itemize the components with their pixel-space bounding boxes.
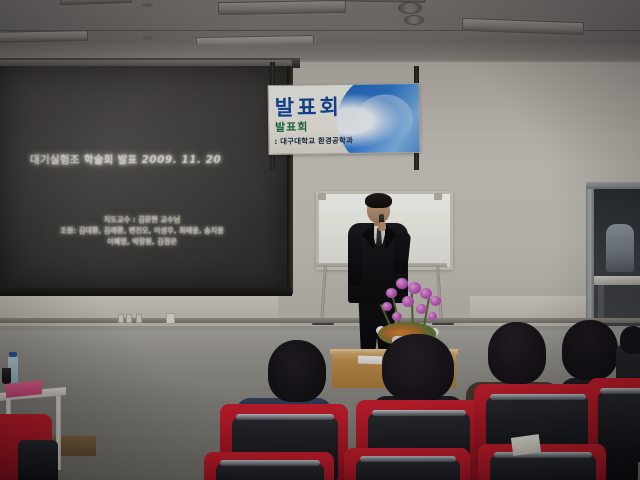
projection-glow [0, 66, 288, 291]
alcove-desk [594, 276, 640, 285]
slide-title-date: 2009. 11. 20 [141, 154, 221, 166]
ceiling-light-fixture [218, 0, 346, 15]
screen-bottom-bar [0, 288, 292, 296]
bottle-cap [9, 352, 17, 357]
banner-title-large: 발표회 [275, 91, 342, 122]
orchid-bloom [430, 296, 441, 306]
orchid-bloom [396, 278, 408, 289]
papers-on-table [358, 356, 382, 365]
ceiling-vent [404, 15, 424, 25]
wall-outlet-small [118, 314, 124, 323]
baseboard [0, 318, 640, 323]
banner-department: : 대구대학교 환경공학과 [274, 135, 353, 147]
alcove-desk-leg [598, 285, 604, 319]
slide-credits: 지도교수 : 김문현 교수님 조원: 김대환, 김래환, 변진오, 이성우, 최… [22, 214, 262, 247]
ceiling-vent [398, 2, 422, 14]
orchid-bloom [386, 288, 397, 298]
alcove-person [606, 224, 634, 272]
seat-handrail [220, 460, 320, 466]
ceiling-speaker [142, 36, 153, 40]
seat-cushion[interactable] [490, 456, 596, 480]
wall-outlet-small [136, 314, 142, 323]
doorway-header [586, 182, 640, 189]
orchid-bloom [416, 304, 427, 314]
whiteboard-corner [318, 193, 326, 200]
seat-handrail [236, 414, 334, 420]
slide-members-line-2: 이혜영, 박장원, 김정은 [22, 236, 262, 247]
seat-cushion[interactable] [216, 464, 324, 480]
cup [2, 368, 11, 384]
event-banner: 발표회 발표회 : 대구대학교 환경공학과 [268, 83, 421, 155]
projection-screen [0, 66, 288, 291]
slide-title: 대기실험조 학술회 발표 2009. 11. 20 [30, 152, 245, 167]
wall-outlet-small [126, 314, 132, 323]
seat-cushion[interactable] [18, 440, 58, 480]
seat-handrail [494, 452, 592, 458]
orchid-bloom [428, 312, 437, 321]
presenter-hair [365, 193, 392, 208]
audience-person-hair [562, 320, 618, 380]
presenter-arm [348, 232, 362, 286]
ceiling-light-fixture [0, 30, 88, 43]
seat-cushion[interactable] [356, 460, 460, 480]
banner-title-mid: 발표회 [275, 118, 309, 134]
seat-handrail [490, 394, 586, 400]
audience-person-hair [382, 334, 454, 402]
wall-outlet [166, 313, 175, 324]
audience-person-hair [620, 326, 640, 354]
audience-person-hair [268, 340, 326, 402]
orchid-bloom [402, 296, 414, 307]
audience-person-hair [488, 322, 546, 384]
orchid-bloom [392, 312, 402, 321]
seat-handrail [600, 388, 640, 394]
lecture-hall-photo: 대기실험조 학술회 발표 2009. 11. 20 지도교수 : 김문현 교수님… [0, 0, 640, 480]
slide-title-text: 대기실험조 학술회 발표 [30, 154, 138, 166]
presenter-hand [378, 222, 386, 231]
slide-advisor-line: 지도교수 : 김문현 교수님 [22, 214, 262, 225]
ceiling-speaker [142, 3, 153, 7]
handout-paper [511, 434, 541, 456]
orchid-bloom [382, 302, 392, 311]
whiteboard-corner [434, 193, 442, 200]
slide-members-line-1: 조원: 김대환, 김래환, 변진오, 이성우, 최태웅, 송지웅 [22, 225, 262, 236]
seat-handrail [372, 410, 466, 416]
seat-handrail [360, 456, 456, 462]
doorway-jamb [586, 182, 594, 334]
